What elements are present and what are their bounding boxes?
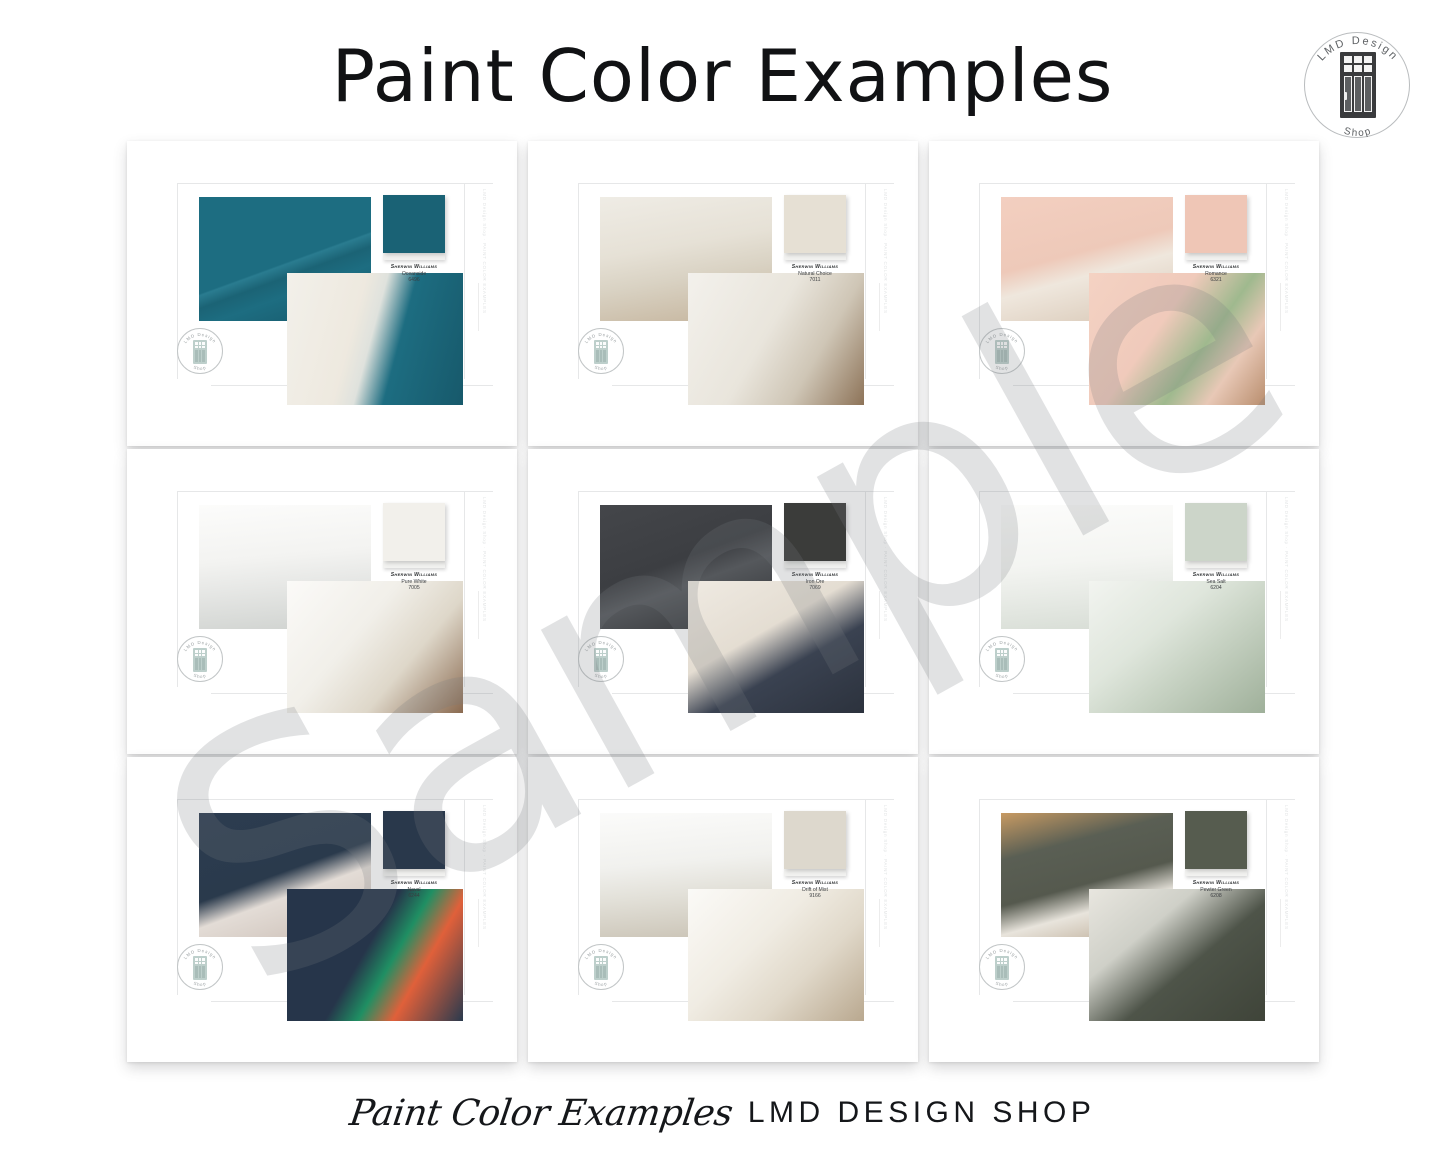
swatch-base-strip [1185, 869, 1247, 876]
room-photo-secondary [1089, 273, 1265, 405]
card-craftsman-door-icon [995, 340, 1009, 364]
swatch-color-code: 7005 [375, 585, 453, 592]
swatch-color-code: 7011 [776, 277, 854, 284]
brand-logo: LMD Design Shop [1296, 24, 1420, 148]
swatch-base-strip [1185, 561, 1247, 568]
paint-card[interactable]: Sherwin Williams Pewter Green 6208 LMD D… [929, 757, 1319, 1062]
card-frame-line [464, 183, 465, 379]
card-vertical-rule [478, 899, 479, 947]
swatch-color-chip [383, 195, 445, 253]
swatch-color-code: 6496 [375, 277, 453, 284]
card-inner: Sherwin Williams Pewter Green 6208 LMD D… [947, 771, 1305, 1038]
card-brand-logo: LMD Design Shop [177, 944, 223, 990]
swatch-base-strip [784, 253, 846, 260]
page-title: Paint Color Examples [0, 34, 1445, 118]
swatch-color-code: 6244 [375, 893, 453, 900]
card-craftsman-door-icon [594, 956, 608, 980]
swatch-base-strip [383, 561, 445, 568]
page-footer: Paint Color Examples LMD DESIGN SHOP [0, 1078, 1445, 1148]
card-vertical-rule [478, 591, 479, 639]
card-craftsman-door-icon [193, 648, 207, 672]
paint-swatch[interactable]: Sherwin Williams Oceanside 6496 [383, 195, 451, 284]
card-vertical-rule [1280, 283, 1281, 331]
card-vertical-watermark: LMD Design Shop · PAINT COLOR EXAMPLES [883, 497, 888, 622]
paint-card[interactable]: Sherwin Williams Oceanside 6496 LMD Desi… [127, 141, 517, 446]
card-craftsman-door-icon [193, 956, 207, 980]
card-logo-bottom-text: Shop [193, 365, 207, 371]
paint-card[interactable]: Sherwin Williams Sea Salt 6204 LMD Desig… [929, 449, 1319, 754]
card-inner: Sherwin Williams Natural Choice 7011 LMD… [546, 155, 904, 422]
card-frame-line [578, 183, 894, 184]
card-vertical-rule [478, 283, 479, 331]
card-frame-line [578, 491, 894, 492]
card-vertical-watermark: LMD Design Shop · PAINT COLOR EXAMPLES [482, 189, 487, 314]
room-photo-secondary [1089, 581, 1265, 713]
card-craftsman-door-icon [995, 648, 1009, 672]
card-frame-line [578, 799, 894, 800]
card-logo-bottom-text: Shop [594, 365, 608, 371]
card-vertical-rule [1280, 899, 1281, 947]
swatch-label: Sherwin Williams Pewter Green 6208 [1177, 880, 1255, 900]
paint-card[interactable]: Sherwin Williams Iron Ore 7069 LMD Desig… [528, 449, 918, 754]
card-vertical-watermark: LMD Design Shop · PAINT COLOR EXAMPLES [1284, 189, 1289, 314]
card-logo-bottom-text: Shop [193, 981, 207, 987]
room-photo-secondary [287, 889, 463, 1021]
swatch-color-chip [1185, 503, 1247, 561]
card-vertical-watermark: LMD Design Shop · PAINT COLOR EXAMPLES [883, 805, 888, 930]
card-logo-bottom-text: Shop [995, 981, 1009, 987]
footer-shop-name: LMD DESIGN SHOP [748, 1096, 1096, 1130]
card-brand-logo: LMD Design Shop [177, 636, 223, 682]
swatch-color-chip [1185, 811, 1247, 869]
paint-swatch[interactable]: Sherwin Williams Sea Salt 6204 [1185, 503, 1253, 592]
card-inner: Sherwin Williams Sea Salt 6204 LMD Desig… [947, 463, 1305, 730]
paint-swatch[interactable]: Sherwin Williams Pure White 7005 [383, 503, 451, 592]
logo-bottom-text: Shop [1343, 126, 1374, 140]
swatch-color-code: 6204 [1177, 585, 1255, 592]
swatch-color-code: 7069 [776, 585, 854, 592]
room-photo-secondary [688, 581, 864, 713]
paint-card[interactable]: Sherwin Williams Naval 6244 LMD Design [127, 757, 517, 1062]
room-photo-secondary [688, 889, 864, 1021]
card-vertical-watermark: LMD Design Shop · PAINT COLOR EXAMPLES [482, 805, 487, 930]
card-frame-line [177, 183, 493, 184]
page-header: Paint Color Examples LMD Design Shop [0, 0, 1445, 140]
paint-card[interactable]: Sherwin Williams Pure White 7005 LMD Des… [127, 449, 517, 754]
card-logo-bottom-text: Shop [594, 673, 608, 679]
swatch-color-code: 6208 [1177, 893, 1255, 900]
swatch-label: Sherwin Williams Naval 6244 [375, 880, 453, 900]
swatch-base-strip [1185, 253, 1247, 260]
swatch-label: Sherwin Williams Sea Salt 6204 [1177, 572, 1255, 592]
card-craftsman-door-icon [594, 340, 608, 364]
card-inner: Sherwin Williams Oceanside 6496 LMD Desi… [145, 155, 503, 422]
card-frame-line [865, 799, 866, 995]
card-brand-logo: LMD Design Shop [979, 944, 1025, 990]
swatch-label: Sherwin Williams Pure White 7005 [375, 572, 453, 592]
card-frame-line [979, 183, 1295, 184]
swatch-base-strip [784, 561, 846, 568]
craftsman-door-icon [1340, 52, 1376, 118]
card-brand-logo: LMD Design Shop [177, 328, 223, 374]
card-frame-line [979, 491, 1295, 492]
card-frame-line [1266, 491, 1267, 687]
room-photo-secondary [688, 273, 864, 405]
card-craftsman-door-icon [995, 956, 1009, 980]
swatch-color-chip [784, 811, 846, 869]
card-frame-line [979, 799, 1295, 800]
paint-swatch[interactable]: Sherwin Williams Iron Ore 7069 [784, 503, 852, 592]
paint-swatch[interactable]: Sherwin Williams Drift of Mist 9166 [784, 811, 852, 900]
paint-swatch[interactable]: Sherwin Williams Naval 6244 [383, 811, 451, 900]
card-frame-line [177, 799, 493, 800]
card-brand-logo: LMD Design Shop [979, 636, 1025, 682]
swatch-color-chip [383, 811, 445, 869]
swatch-base-strip [383, 869, 445, 876]
paint-card[interactable]: Sherwin Williams Drift of Mist 9166 LMD … [528, 757, 918, 1062]
paint-card-grid: Sherwin Williams Oceanside 6496 LMD Desi… [127, 141, 1319, 1061]
room-photo-secondary [287, 273, 463, 405]
swatch-label: Sherwin Williams Oceanside 6496 [375, 264, 453, 284]
card-frame-line [865, 183, 866, 379]
card-vertical-rule [879, 591, 880, 639]
card-inner: Sherwin Williams Iron Ore 7069 LMD Desig… [546, 463, 904, 730]
swatch-base-strip [383, 253, 445, 260]
card-frame-line [177, 491, 493, 492]
card-logo-bottom-text: Shop [995, 673, 1009, 679]
card-vertical-watermark: LMD Design Shop · PAINT COLOR EXAMPLES [1284, 805, 1289, 930]
room-photo-secondary [1089, 889, 1265, 1021]
card-logo-bottom-text: Shop [193, 673, 207, 679]
swatch-color-chip [784, 503, 846, 561]
card-logo-bottom-text: Shop [995, 365, 1009, 371]
swatch-label: Sherwin Williams Drift of Mist 9166 [776, 880, 854, 900]
paint-card[interactable]: Sherwin Williams Natural Choice 7011 LMD… [528, 141, 918, 446]
card-inner: Sherwin Williams Romance 6321 LMD Design [947, 155, 1305, 422]
paint-swatch[interactable]: Sherwin Williams Natural Choice 7011 [784, 195, 852, 284]
footer-script-text: Paint Color Examples [347, 1093, 735, 1134]
swatch-label: Sherwin Williams Romance 6321 [1177, 264, 1255, 284]
card-vertical-rule [879, 899, 880, 947]
card-brand-logo: LMD Design Shop [578, 636, 624, 682]
swatch-color-chip [383, 503, 445, 561]
paint-swatch[interactable]: Sherwin Williams Pewter Green 6208 [1185, 811, 1253, 900]
card-vertical-rule [1280, 591, 1281, 639]
card-brand-logo: LMD Design Shop [578, 944, 624, 990]
swatch-label: Sherwin Williams Natural Choice 7011 [776, 264, 854, 284]
swatch-color-chip [1185, 195, 1247, 253]
card-brand-logo: LMD Design Shop [578, 328, 624, 374]
paint-card[interactable]: Sherwin Williams Romance 6321 LMD Design [929, 141, 1319, 446]
swatch-color-code: 9166 [776, 893, 854, 900]
card-frame-line [865, 491, 866, 687]
card-frame-line [464, 799, 465, 995]
card-vertical-watermark: LMD Design Shop · PAINT COLOR EXAMPLES [1284, 497, 1289, 622]
card-frame-line [1266, 183, 1267, 379]
card-vertical-watermark: LMD Design Shop · PAINT COLOR EXAMPLES [482, 497, 487, 622]
card-inner: Sherwin Williams Naval 6244 LMD Design [145, 771, 503, 1038]
room-photo-secondary [287, 581, 463, 713]
card-craftsman-door-icon [193, 340, 207, 364]
card-vertical-watermark: LMD Design Shop · PAINT COLOR EXAMPLES [883, 189, 888, 314]
swatch-color-code: 6321 [1177, 277, 1255, 284]
paint-swatch[interactable]: Sherwin Williams Romance 6321 [1185, 195, 1253, 284]
card-craftsman-door-icon [594, 648, 608, 672]
card-inner: Sherwin Williams Drift of Mist 9166 LMD … [546, 771, 904, 1038]
card-logo-bottom-text: Shop [594, 981, 608, 987]
swatch-base-strip [784, 869, 846, 876]
swatch-label: Sherwin Williams Iron Ore 7069 [776, 572, 854, 592]
card-inner: Sherwin Williams Pure White 7005 LMD Des… [145, 463, 503, 730]
swatch-color-chip [784, 195, 846, 253]
card-brand-logo: LMD Design Shop [979, 328, 1025, 374]
card-frame-line [1266, 799, 1267, 995]
card-frame-line [464, 491, 465, 687]
card-vertical-rule [879, 283, 880, 331]
